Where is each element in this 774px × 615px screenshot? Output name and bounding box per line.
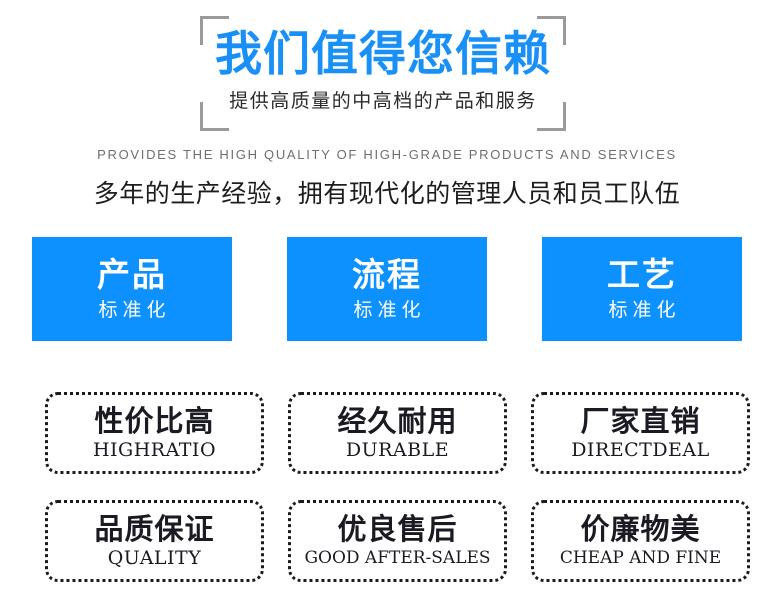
feature-label-cn: 性价比高 [94,404,214,438]
feature-label-en: QUALITY [108,546,202,570]
card-title: 工艺 [607,255,677,295]
standardization-card-product: 产品 标准化 [32,237,232,341]
card-title: 产品 [97,255,167,295]
card-subtitle: 标准化 [93,295,170,325]
feature-label-cn: 价廉物美 [580,512,700,546]
page-headline: 我们值得您信赖 [200,27,566,83]
feature-label-en: DURABLE [346,438,449,462]
standardization-card-craft: 工艺 标准化 [542,237,742,341]
card-title: 流程 [352,255,422,295]
header-bracket-frame: 我们值得您信赖 提供高质量的中高档的产品和服务 [200,16,566,131]
feature-badge-good-after-sales: 优良售后 GOOD AFTER-SALES [288,500,507,582]
standardization-card-process: 流程 标准化 [287,237,487,341]
feature-badge-quality: 品质保证 QUALITY [45,500,264,582]
feature-badge-durable: 经久耐用 DURABLE [288,392,507,474]
experience-statement: 多年的生产经验，拥有现代化的管理人员和员工队伍 [0,176,774,212]
standardization-card-row: 产品 标准化 流程 标准化 工艺 标准化 [32,237,742,341]
feature-badge-grid: 性价比高 HIGHRATIO 经久耐用 DURABLE 厂家直销 DIRECTD… [45,392,750,582]
card-subtitle: 标准化 [348,295,425,325]
feature-label-cn: 优良售后 [337,512,457,546]
feature-badge-direct-deal: 厂家直销 DIRECTDEAL [531,392,750,474]
feature-label-cn: 品质保证 [94,512,214,546]
feature-label-en: DIRECTDEAL [571,438,710,462]
card-subtitle: 标准化 [603,295,680,325]
feature-badge-cheap-and-fine: 价廉物美 CHEAP AND FINE [531,500,750,582]
feature-badge-high-ratio: 性价比高 HIGHRATIO [45,392,264,474]
feature-label-cn: 经久耐用 [337,404,457,438]
page-subheadline: 提供高质量的中高档的产品和服务 [200,88,566,114]
feature-label-en: GOOD AFTER-SALES [304,546,490,570]
english-tagline: PROVIDES THE HIGH QUALITY OF HIGH-GRADE … [0,146,774,164]
feature-label-en: HIGHRATIO [93,438,216,462]
feature-label-cn: 厂家直销 [580,404,700,438]
feature-label-en: CHEAP AND FINE [560,546,721,570]
